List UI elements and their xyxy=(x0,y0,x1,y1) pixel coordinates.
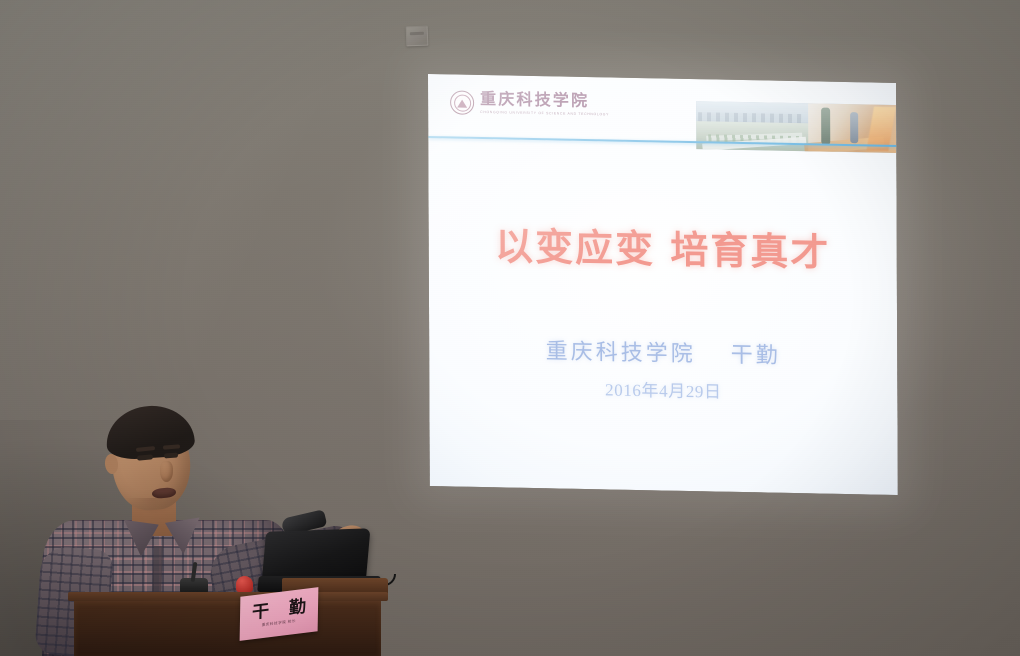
podium-front-panel xyxy=(74,601,381,656)
slide-title: 以变应变 培育真才 xyxy=(429,214,897,278)
red-indicator-light-icon xyxy=(236,576,253,592)
podium: 干 勤 重庆科技学院 校长 xyxy=(68,592,388,656)
speaker-nose xyxy=(160,461,173,482)
wall-plate-left-icon xyxy=(406,26,429,47)
slide-header: 重庆科技学院 CHONGQING UNIVERSITY OF SCIENCE A… xyxy=(428,74,896,145)
projected-slide: 重庆科技学院 CHONGQING UNIVERSITY OF SCIENCE A… xyxy=(428,74,898,495)
logo-english-name: CHONGQING UNIVERSITY OF SCIENCE AND TECH… xyxy=(480,111,609,117)
speaker-hair xyxy=(104,403,195,461)
wall-plate-mark xyxy=(410,32,424,35)
speaker-eye-right xyxy=(164,453,178,459)
logo-text: 重庆科技学院 CHONGQING UNIVERSITY OF SCIENCE A… xyxy=(480,92,609,117)
name-card-name: 干 勤 xyxy=(245,598,313,623)
logo-chinese-name: 重庆科技学院 xyxy=(480,92,609,110)
university-logo: 重庆科技学院 CHONGQING UNIVERSITY OF SCIENCE A… xyxy=(450,90,609,117)
speaker-chin-shadow xyxy=(126,498,180,514)
logo-emblem-icon xyxy=(450,90,474,114)
podium-top-surface xyxy=(68,592,388,601)
lecture-hall-scene: 重庆科技学院 CHONGQING UNIVERSITY OF SCIENCE A… xyxy=(0,0,1020,656)
